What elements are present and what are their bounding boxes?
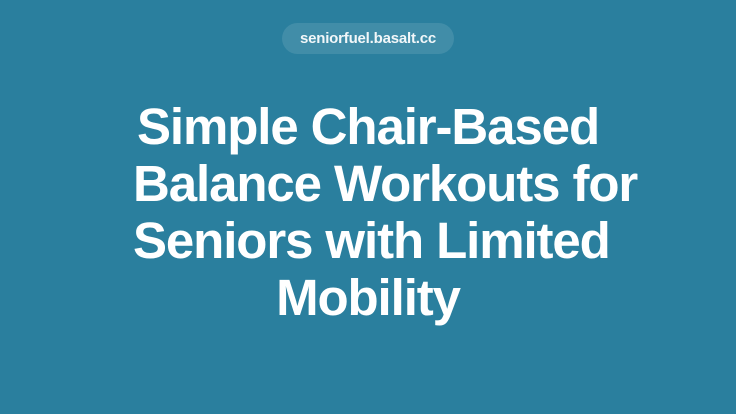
share-card: seniorfuel.basalt.cc Simple Chair-Based … [0, 0, 736, 414]
headline-line-4: Mobility [133, 269, 603, 326]
headline-line-3: Seniors with Limited [133, 212, 603, 269]
domain-badge-label: seniorfuel.basalt.cc [300, 31, 436, 46]
headline-line-2: Balance Workouts for [133, 155, 603, 212]
page-title: Simple Chair-Based Balance Workouts for … [133, 98, 603, 326]
domain-badge[interactable]: seniorfuel.basalt.cc [282, 23, 454, 54]
headline-line-1: Simple Chair-Based [133, 98, 603, 155]
